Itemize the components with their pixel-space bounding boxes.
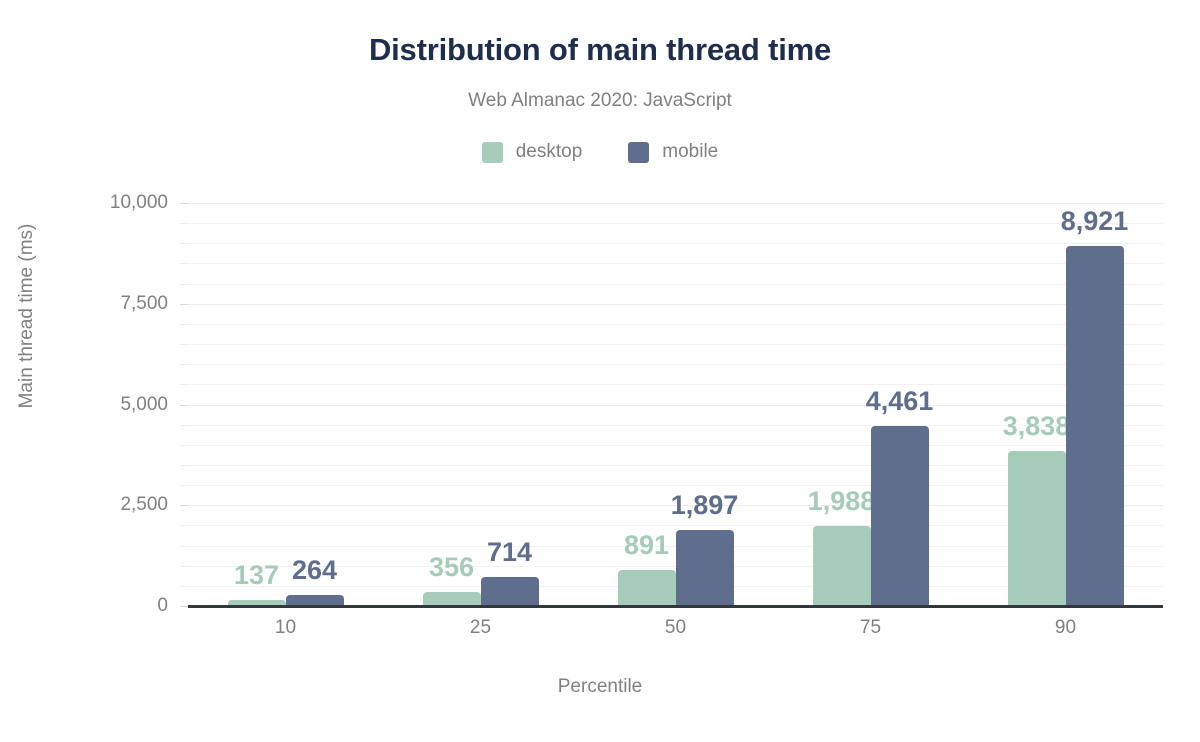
legend-swatch-desktop [482, 142, 503, 163]
bar-mobile-75[interactable] [871, 426, 929, 606]
y-tick-label: 7,500 [48, 293, 168, 315]
legend-item-desktop[interactable]: desktop [482, 141, 583, 163]
x-axis-title: Percentile [0, 676, 1200, 698]
bar-mobile-90[interactable] [1066, 246, 1124, 606]
x-axis-line [188, 605, 1163, 608]
bar-desktop-50[interactable] [618, 570, 676, 606]
legend-label-mobile: mobile [662, 141, 718, 163]
y-tick-label: 0 [48, 595, 168, 617]
chart-legend: desktop mobile [0, 141, 1200, 163]
bar-desktop-25[interactable] [423, 592, 481, 606]
chart-title: Distribution of main thread time [0, 32, 1200, 68]
bar-value-label-mobile-90: 8,921 [1010, 206, 1180, 237]
y-axis-title: Main thread time (ms) [16, 166, 38, 466]
chart-subtitle: Web Almanac 2020: JavaScript [0, 90, 1200, 112]
bar-mobile-25[interactable] [481, 577, 539, 606]
bars-layer: 1372643567148911,8971,9884,4613,8388,921 [188, 203, 1163, 606]
legend-item-mobile[interactable]: mobile [628, 141, 718, 163]
x-tick-label: 50 [616, 617, 736, 639]
legend-swatch-mobile [628, 142, 649, 163]
y-axis-ticks: 02,5005,0007,50010,000 [40, 203, 168, 606]
y-tick-label: 2,500 [48, 494, 168, 516]
bar-mobile-50[interactable] [676, 530, 734, 606]
x-tick-label: 75 [811, 617, 931, 639]
y-tick-label: 10,000 [48, 192, 168, 214]
x-axis-ticks: 1025507590 [188, 617, 1163, 647]
bar-desktop-75[interactable] [813, 526, 871, 606]
y-tick-label: 5,000 [48, 394, 168, 416]
x-tick-label: 90 [1006, 617, 1126, 639]
bar-desktop-90[interactable] [1008, 451, 1066, 606]
x-tick-label: 10 [226, 617, 346, 639]
x-tick-label: 25 [421, 617, 541, 639]
legend-label-desktop: desktop [516, 141, 583, 163]
